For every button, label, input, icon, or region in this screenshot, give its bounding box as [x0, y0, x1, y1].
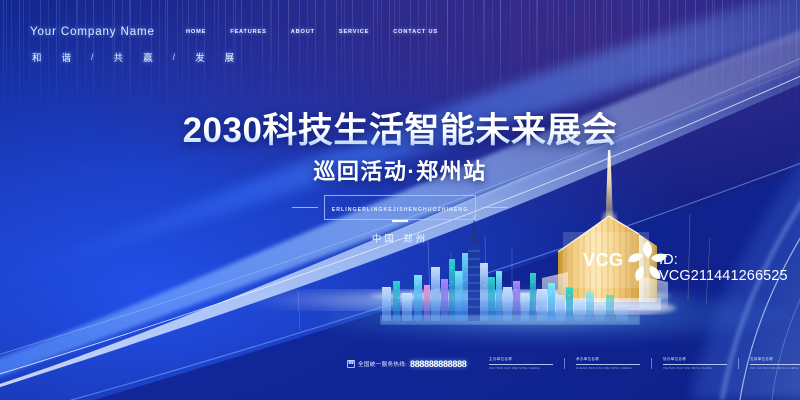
watermark-id: ID: VCG211441266525 [659, 252, 800, 284]
slogan-word-6: 展 [225, 50, 237, 64]
organizer-title: 承办单位名称 [576, 357, 640, 362]
top-navigation[interactable]: HOME FEATURES ABOUT SERVICE CONTACT US [186, 29, 438, 35]
hotline-label: 全国统一服务热线: [358, 360, 407, 368]
organizer-subtitle: CHENG BAN DAN WEI MING CHENG [576, 366, 640, 370]
organizer-divider [564, 358, 565, 369]
organizer-block: 主办单位名称 ZHU BAN DAN WEI MING CHENG [489, 357, 553, 370]
organizer-subtitle: XIE BAN DAN WEI MING CHENG [663, 366, 727, 370]
pinyin-box: ERLINGERLINGKEJISHENGHUOZHINENG [324, 195, 477, 220]
page-subtitle: 巡回活动·郑州站 [0, 154, 800, 186]
nav-item-home[interactable]: HOME [186, 29, 206, 35]
nav-item-features[interactable]: FEATURES [230, 29, 267, 35]
organizer-rule [663, 364, 727, 365]
pinyin-rule-right [482, 207, 508, 208]
organizer-rule [750, 364, 800, 365]
pinyin-decoration: ERLINGERLINGKEJISHENGHUOZHINENG [0, 195, 800, 220]
organizer-block: 支持单位名称 ZHI CHI DAN WEI MING CHENG [750, 357, 800, 370]
phone-icon: ☎ [347, 360, 355, 368]
watermark-brand: VCG [583, 250, 624, 271]
watermark-id-value: VCG211441266525 [659, 268, 788, 284]
slogan-word-2: 谐 [62, 50, 74, 64]
organizer-title: 支持单位名称 [750, 357, 800, 362]
organizer-block: 协办单位名称 XIE BAN DAN WEI MING CHENG [663, 357, 727, 370]
footer-organizer-blocks: 主办单位名称 ZHU BAN DAN WEI MING CHENG 承办单位名称… [489, 357, 800, 370]
nav-item-service[interactable]: SERVICE [339, 29, 369, 35]
organizer-subtitle: ZHI CHI DAN WEI MING CHENG [750, 366, 800, 370]
page-title: 2030科技生活智能未来展会 [0, 112, 800, 150]
hotline-bar: ☎ 全国统一服务热线: 888888888888 [347, 359, 466, 369]
nav-item-about[interactable]: ABOUT [291, 29, 315, 35]
hotline-number: 888888888888 [410, 359, 466, 369]
organizer-title: 协办单位名称 [663, 357, 727, 362]
slogan-word-3: 共 [114, 50, 126, 64]
organizer-subtitle: ZHU BAN DAN WEI MING CHENG [489, 366, 553, 370]
organizer-divider [651, 358, 652, 369]
nav-item-contact-us[interactable]: CONTACT US [393, 29, 438, 35]
event-location: 中国·郑州 [0, 231, 800, 245]
slogan-separator-1: / [91, 52, 96, 62]
organizer-rule [576, 364, 640, 365]
slogan-word-4: 赢 [143, 50, 155, 64]
skyline-base-haze [380, 315, 640, 325]
hero-title-block: 2030科技生活智能未来展会 巡回活动·郑州站 ERLINGERLINGKEJI… [0, 112, 800, 245]
organizer-block: 承办单位名称 CHENG BAN DAN WEI MING CHENG [576, 357, 640, 370]
company-slogan: 和 谐 / 共 赢 / 发 展 [32, 50, 236, 64]
organizer-title: 主办单位名称 [489, 357, 553, 362]
organizer-divider [738, 358, 739, 369]
slogan-separator-2: / [173, 52, 178, 62]
watermark-id-prefix: ID: [659, 252, 678, 268]
organizer-rule [489, 364, 553, 365]
poster-canvas: Your Company Name HOME FEATURES ABOUT SE… [0, 0, 800, 400]
slogan-word-1: 和 [32, 50, 44, 64]
pinyin-rule-left [292, 207, 318, 208]
slogan-word-5: 发 [195, 50, 207, 64]
company-name: Your Company Name [30, 26, 155, 38]
pinyin-text: ERLINGERLINGKEJISHENGHUOZHINENG [332, 207, 469, 213]
